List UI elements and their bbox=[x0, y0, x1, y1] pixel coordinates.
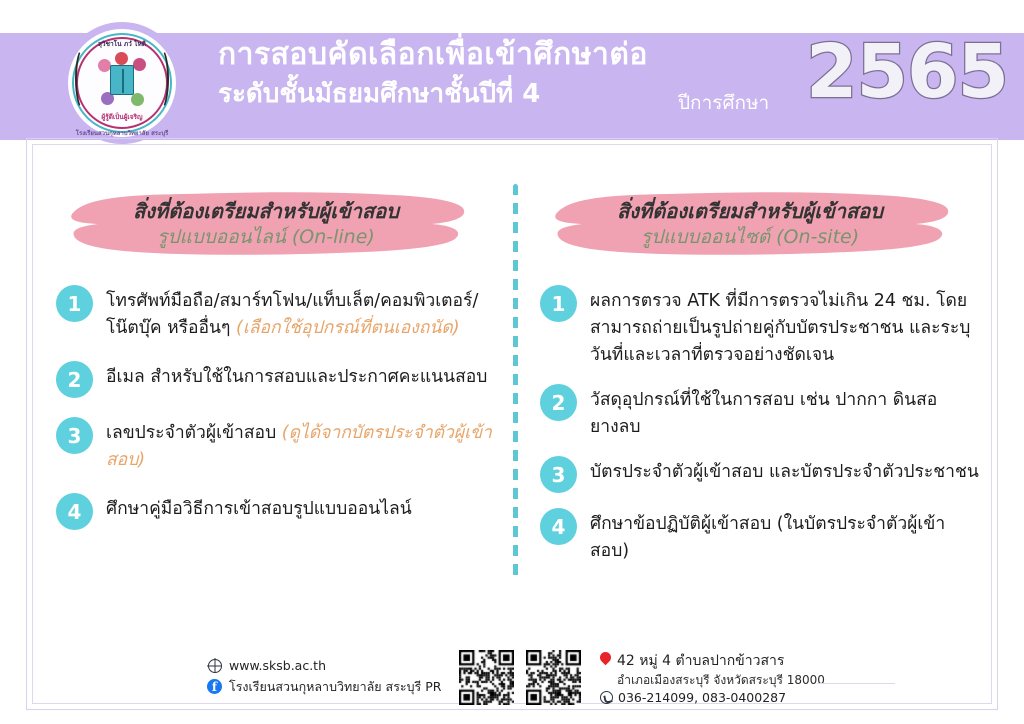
logo-flower-icon bbox=[115, 52, 128, 65]
column-heading-text-onsite: สิ่งที่ต้องเตรียมสำหรับผู้เข้าสอบ รูปแบบ… bbox=[548, 198, 952, 250]
school-logo: สุวิชาโน ภวํ โหติ ผู้รู้ดีเป็นผู้เจริญ โ… bbox=[61, 22, 183, 144]
list-item-text: ศึกษาข้อปฏิบัติผู้เข้าสอบ (ในบัตรประจำตั… bbox=[590, 514, 945, 561]
list-item: 2 อีเมล สำหรับใช้ในการสอบและประกาศคะแนนส… bbox=[56, 360, 496, 398]
column-heading-onsite: สิ่งที่ต้องเตรียมสำหรับผู้เข้าสอบ รูปแบบ… bbox=[548, 186, 952, 262]
list-item-text: อีเมล สำหรับใช้ในการสอบและประกาศคะแนนสอบ bbox=[106, 367, 487, 387]
logo-motto-bottom: ผู้รู้ดีเป็นผู้เจริญ bbox=[61, 112, 183, 122]
list-item-text: เลขประจำตัวผู้เข้าสอบ bbox=[106, 423, 282, 443]
address-line2: อำเภอเมืองสระบุรี จังหวัดสระบุรี 18000 bbox=[617, 671, 825, 689]
list-item: 1 ผลการตรวจ ATK ที่มีการตรวจไม่เกิน 24 ช… bbox=[540, 284, 980, 369]
list-item-number: 4 bbox=[56, 493, 93, 530]
address-line1: 42 หมู่ 4 ตำบลปากข้าวสาร bbox=[617, 652, 784, 671]
list-item: 4 ศึกษาข้อปฏิบัติผู้เข้าสอบ (ในบัตรประจำ… bbox=[540, 507, 980, 565]
column-divider bbox=[513, 184, 518, 580]
list-item-number: 2 bbox=[540, 384, 577, 421]
column-heading-text-online: สิ่งที่ต้องเตรียมสำหรับผู้เข้าสอบ รูปแบบ… bbox=[64, 198, 468, 250]
page-title-line1: การสอบคัดเลือกเพื่อเข้าศึกษาต่อ bbox=[218, 36, 798, 74]
checklist-online: 1 โทรศัพท์มือถือ/สมาร์ทโฟน/แท็บเล็ต/คอมพ… bbox=[56, 284, 496, 530]
footer-contact-left: www.sksb.ac.th f โรงเรียนสวนกุหลาบวิทยาล… bbox=[207, 655, 441, 697]
facebook-icon: f bbox=[207, 679, 222, 694]
logo-right-brace-icon bbox=[153, 48, 169, 110]
list-item-number: 4 bbox=[540, 508, 577, 545]
logo-flower-icon bbox=[133, 58, 146, 71]
list-item-text: บัตรประจำตัวผู้เข้าสอบ และบัตรประจำตัวปร… bbox=[590, 462, 979, 482]
footer-phone-row: 036-214099, 083-0400287 bbox=[600, 689, 825, 707]
footer-contact-right: 42 หมู่ 4 ตำบลปากข้าวสาร อำเภอเมืองสระบุ… bbox=[600, 652, 825, 707]
logo-arc-text: โรงเรียนสวนกุหลาบวิทยาลัย สระบุรี bbox=[61, 128, 183, 138]
footer-address-row: 42 หมู่ 4 ตำบลปากข้าวสาร bbox=[600, 652, 825, 671]
logo-crest-icon bbox=[99, 55, 145, 107]
list-item-body: อีเมล สำหรับใช้ในการสอบและประกาศคะแนนสอบ bbox=[106, 360, 487, 391]
footer-divider-line bbox=[817, 683, 895, 684]
list-item-body: วัสดุอุปกรณ์ที่ใช้ในการสอบ เช่น ปากกา ดิ… bbox=[590, 383, 980, 441]
logo-motto-top: สุวิชาโน ภวํ โหติ bbox=[61, 39, 183, 49]
column-onsite: สิ่งที่ต้องเตรียมสำหรับผู้เข้าสอบ รูปแบบ… bbox=[540, 186, 980, 579]
website-text: www.sksb.ac.th bbox=[229, 655, 326, 676]
list-item-number: 3 bbox=[540, 456, 577, 493]
list-item-body: เลขประจำตัวผู้เข้าสอบ (ดูได้จากบัตรประจำ… bbox=[106, 416, 496, 474]
list-item: 1 โทรศัพท์มือถือ/สมาร์ทโฟน/แท็บเล็ต/คอมพ… bbox=[56, 284, 496, 342]
list-item: 2 วัสดุอุปกรณ์ที่ใช้ในการสอบ เช่น ปากกา … bbox=[540, 383, 980, 441]
qr-code[interactable] bbox=[459, 650, 514, 705]
list-item: 4 ศึกษาคู่มือวิธีการเข้าสอบรูปแบบออนไลน์ bbox=[56, 492, 496, 530]
phone-icon bbox=[600, 691, 613, 704]
logo-flower-icon bbox=[131, 93, 144, 106]
heading-title: สิ่งที่ต้องเตรียมสำหรับผู้เข้าสอบ bbox=[548, 198, 952, 224]
list-item-body: ศึกษาข้อปฏิบัติผู้เข้าสอบ (ในบัตรประจำตั… bbox=[590, 507, 980, 565]
map-pin-icon bbox=[600, 652, 611, 667]
phone-text: 036-214099, 083-0400287 bbox=[618, 689, 786, 707]
list-item-body: ศึกษาคู่มือวิธีการเข้าสอบรูปแบบออนไลน์ bbox=[106, 492, 412, 523]
facebook-text: โรงเรียนสวนกุหลาบวิทยาลัย สระบุรี PR bbox=[229, 676, 441, 697]
academic-year-label: ปีการศึกษา bbox=[678, 88, 769, 118]
logo-book-icon bbox=[110, 65, 134, 95]
list-item-number: 1 bbox=[540, 285, 577, 322]
heading-subtitle: รูปแบบออนไลน์ (On-line) bbox=[64, 224, 468, 250]
footer-website-row[interactable]: www.sksb.ac.th bbox=[207, 655, 441, 676]
list-item-body: ผลการตรวจ ATK ที่มีการตรวจไม่เกิน 24 ชม.… bbox=[590, 284, 980, 369]
list-item-number: 3 bbox=[56, 417, 93, 454]
qr-code[interactable] bbox=[526, 650, 581, 705]
list-item: 3 เลขประจำตัวผู้เข้าสอบ (ดูได้จากบัตรประ… bbox=[56, 416, 496, 474]
list-item-number: 2 bbox=[56, 361, 93, 398]
qr-code-group bbox=[459, 650, 581, 705]
list-item-number: 1 bbox=[56, 285, 93, 322]
list-item-text: วัสดุอุปกรณ์ที่ใช้ในการสอบ เช่น ปากกา ดิ… bbox=[590, 390, 937, 437]
list-item-note: (เลือกใช้อุปกรณ์ที่ตนเองถนัด) bbox=[236, 318, 460, 338]
column-online: สิ่งที่ต้องเตรียมสำหรับผู้เข้าสอบ รูปแบบ… bbox=[56, 186, 496, 548]
checklist-onsite: 1 ผลการตรวจ ATK ที่มีการตรวจไม่เกิน 24 ช… bbox=[540, 284, 980, 565]
globe-icon bbox=[207, 658, 222, 673]
heading-subtitle: รูปแบบออนไซต์ (On-site) bbox=[548, 224, 952, 250]
logo-left-brace-icon bbox=[75, 48, 91, 110]
heading-title: สิ่งที่ต้องเตรียมสำหรับผู้เข้าสอบ bbox=[64, 198, 468, 224]
list-item-text: ผลการตรวจ ATK ที่มีการตรวจไม่เกิน 24 ชม.… bbox=[590, 291, 970, 365]
footer-address-sub-row: อำเภอเมืองสระบุรี จังหวัดสระบุรี 18000 bbox=[600, 671, 825, 689]
academic-year-value: 2565 bbox=[806, 35, 1008, 109]
list-item-body: โทรศัพท์มือถือ/สมาร์ทโฟน/แท็บเล็ต/คอมพิว… bbox=[106, 284, 496, 342]
infographic-page: สุวิชาโน ภวํ โหติ ผู้รู้ดีเป็นผู้เจริญ โ… bbox=[0, 0, 1024, 724]
footer-facebook-row[interactable]: f โรงเรียนสวนกุหลาบวิทยาลัย สระบุรี PR bbox=[207, 676, 441, 697]
list-item-body: บัตรประจำตัวผู้เข้าสอบ และบัตรประจำตัวปร… bbox=[590, 455, 979, 486]
list-item: 3 บัตรประจำตัวผู้เข้าสอบ และบัตรประจำตัว… bbox=[540, 455, 980, 493]
list-item-text: ศึกษาคู่มือวิธีการเข้าสอบรูปแบบออนไลน์ bbox=[106, 499, 412, 519]
column-heading-online: สิ่งที่ต้องเตรียมสำหรับผู้เข้าสอบ รูปแบบ… bbox=[64, 186, 468, 262]
